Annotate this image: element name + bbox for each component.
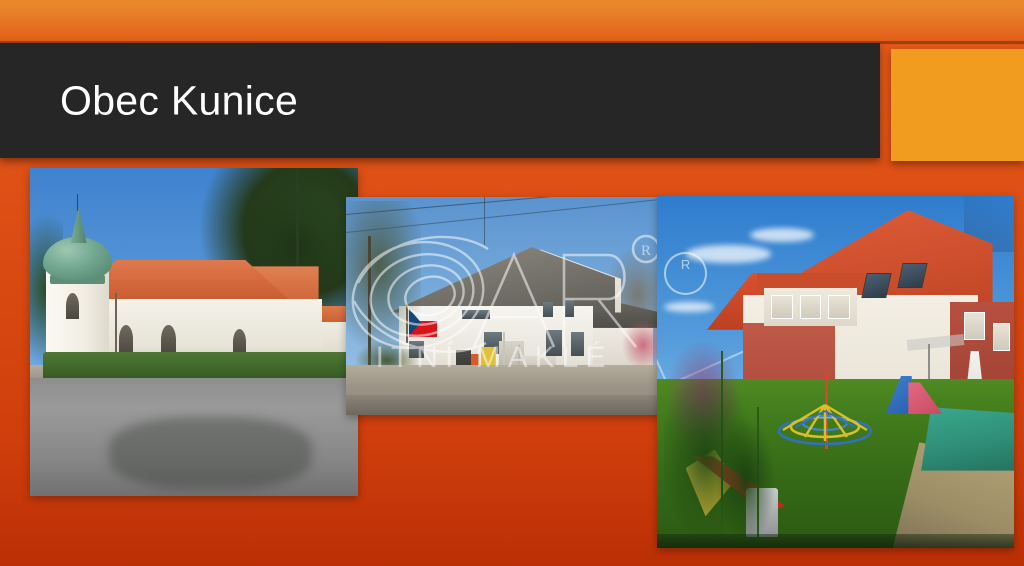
foreground-shadow: [657, 534, 1014, 548]
window: [571, 332, 584, 356]
slide-steps: [885, 376, 911, 415]
accent-block: [891, 49, 1024, 161]
dormer-window: [828, 295, 849, 320]
bare-tree: [346, 201, 421, 358]
foreground-plant: [714, 414, 778, 548]
slide-chute: [908, 382, 942, 414]
tower-window: [66, 293, 79, 319]
nave-window: [119, 325, 134, 355]
nave-window: [161, 325, 176, 355]
gable-window: [543, 302, 552, 317]
blue-pink-slide: [885, 376, 942, 415]
skylight: [897, 263, 927, 288]
dormer-window: [771, 295, 792, 320]
merry-go-round: [775, 397, 875, 446]
kindergarten-photo[interactable]: R: [657, 196, 1014, 548]
sandbox-cover: [921, 407, 1014, 470]
window: [993, 323, 1011, 351]
flowering-shrub: [621, 319, 659, 371]
roof-window: [462, 310, 490, 319]
road: [346, 395, 659, 415]
window: [546, 330, 562, 356]
municipal-building-photo[interactable]: R ITNÍ MAKLÉ: [346, 197, 659, 415]
dormer-window: [800, 295, 821, 320]
top-accent-band: [0, 0, 1024, 43]
church-photo[interactable]: [30, 168, 358, 496]
road-shadow: [109, 417, 312, 489]
window: [964, 312, 985, 340]
power-line-vertical: [484, 197, 485, 245]
title-bar: Obec Kunice: [0, 43, 880, 158]
presentation-slide: Obec Kunice: [0, 0, 1024, 566]
cloud: [750, 228, 814, 242]
page-title: Obec Kunice: [60, 80, 298, 121]
gable-window: [565, 299, 574, 316]
cross-icon: [77, 194, 78, 210]
